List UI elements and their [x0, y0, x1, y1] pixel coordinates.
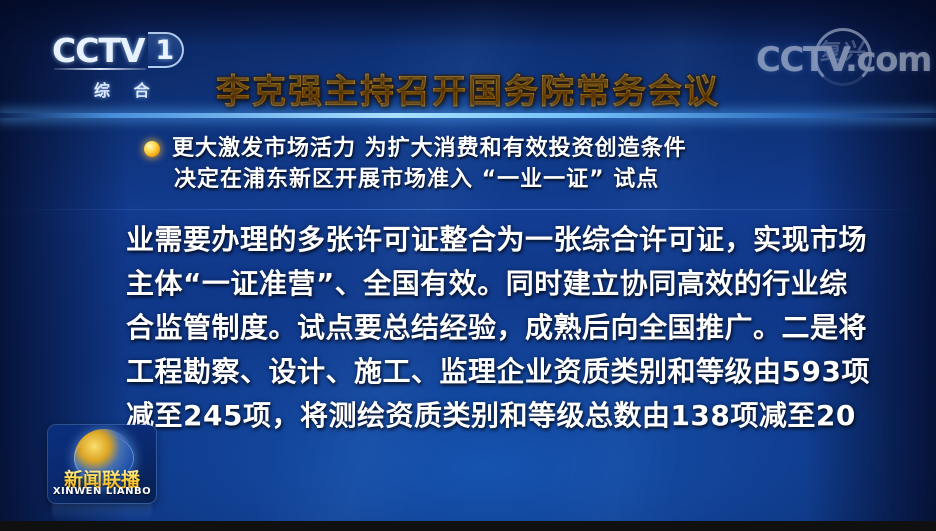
body-line: 合监管制度。试点要总结经验，成熟后向全国推广。二是将 [126, 306, 826, 350]
broadcast-screen: CCTV 1 综 合 复兴 CCTV.com 李克强主持召开国务院常务会议 更大… [0, 0, 936, 531]
headline-divider [0, 113, 936, 118]
subheadline-line-2: 决定在浦东新区开展市场准入 “一业一证” 试点 [138, 164, 798, 195]
headline-title: 李克强主持召开国务院常务会议 [0, 64, 936, 113]
xinwen-lianbo-program-logo: 新闻联播 XINWEN LIANBO [48, 425, 156, 503]
body-line: 主体“一证准营”、全国有效。同时建立协同高效的行业综 [126, 262, 826, 306]
bottom-letterbox-bar [0, 521, 936, 531]
body-line: 业需要办理的多张许可证整合为一张综合许可证，实现市场 [126, 218, 826, 262]
program-logo-en-title: XINWEN LIANBO [48, 486, 156, 497]
subheadline-block: 更大激发市场活力 为扩大消费和有效投资创造条件 决定在浦东新区开展市场准入 “一… [138, 133, 798, 195]
subheadline-line-1: 更大激发市场活力 为扩大消费和有效投资创造条件 [138, 133, 798, 164]
cctv-channel-number: 1 [155, 35, 174, 66]
news-body-text: 业需要办理的多张许可证整合为一张综合许可证，实现市场 主体“一证准营”、全国有效… [126, 218, 826, 438]
program-logo-reflection [52, 503, 152, 521]
body-divider [0, 209, 936, 210]
body-line: 减至245项，将测绘资质类别和等级总数由138项减至20 [126, 394, 826, 438]
body-line: 工程勘察、设计、施工、监理企业资质类别和等级由593项 [126, 350, 826, 394]
cctv-channel-number-box: 1 [148, 32, 185, 68]
gold-dot-icon [144, 141, 160, 157]
